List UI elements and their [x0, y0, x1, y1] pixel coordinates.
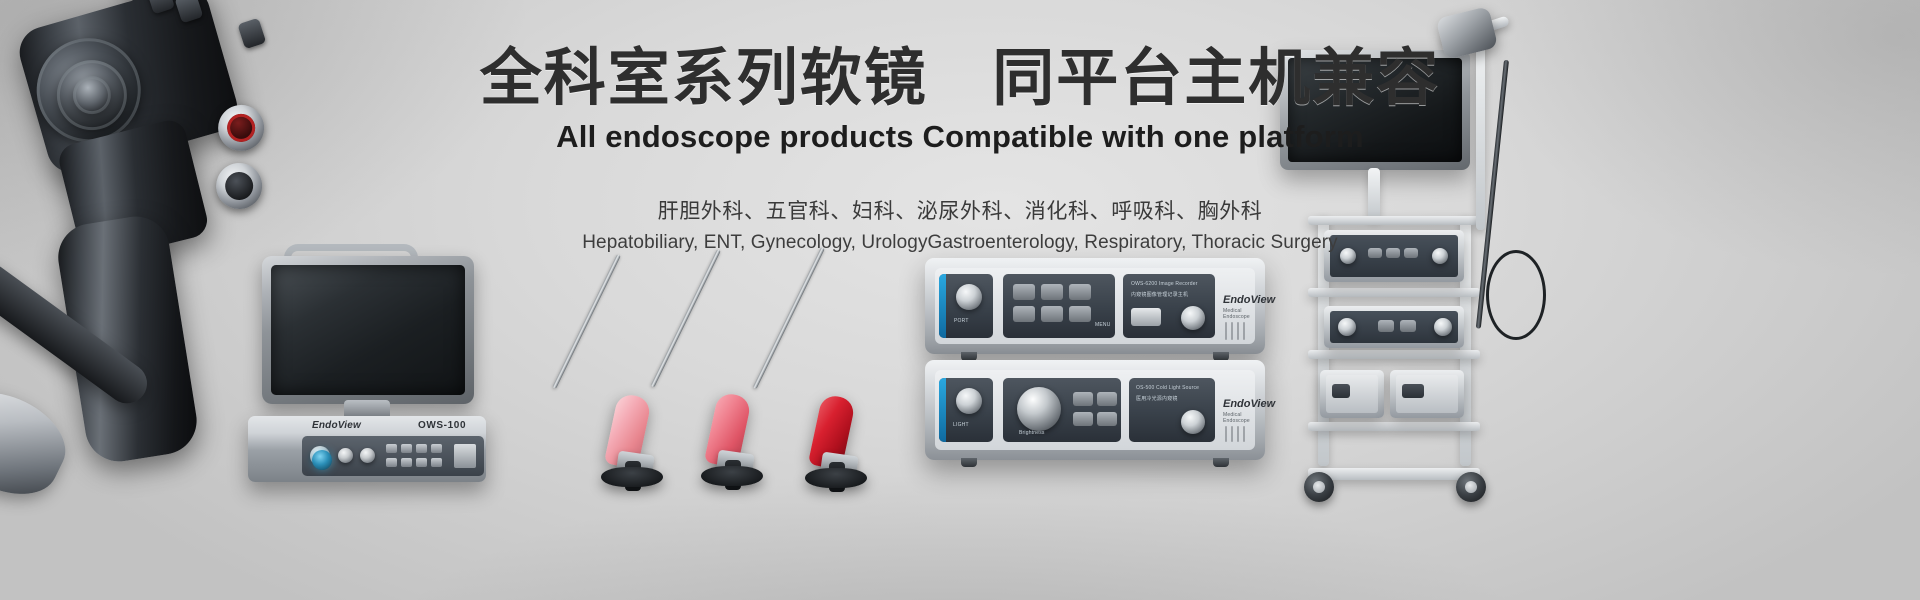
workstation-power-key — [454, 444, 476, 468]
recorder-key-3 — [1069, 284, 1091, 300]
cart-shelf-2 — [1308, 288, 1480, 297]
cart-lower-left-key — [1332, 384, 1350, 398]
lightsource-title-en: OS-500 Cold Light Source — [1136, 385, 1199, 391]
workstation-key-1 — [386, 444, 397, 453]
workstation-knob-2 — [338, 448, 353, 463]
cart-caster-left — [1304, 472, 1334, 502]
workstation-model-label: OWS-100 — [418, 420, 466, 431]
recorder-brand-sub: Medical Endoscope — [1223, 308, 1265, 320]
workstation-key-5 — [386, 458, 397, 467]
headline-cn-part2: 同平台主机兼容 — [992, 44, 1440, 113]
rigid-stand-base — [805, 468, 867, 488]
workstation-brand-label: EndoView — [312, 420, 361, 431]
recorder-brand-label: EndoView — [1223, 294, 1275, 306]
headline-cn-part1: 全科室系列软镜 — [480, 44, 928, 113]
workstation-key-3 — [416, 444, 427, 453]
recorder-key-1 — [1013, 284, 1035, 300]
recorder-accent-strip — [939, 274, 946, 338]
banner-text-block: 全科室系列软镜 同平台主机兼容 All endoscope products C… — [0, 46, 1920, 254]
rigid-shaft — [753, 247, 825, 389]
recorder-keypad-label: MENU — [1095, 322, 1111, 328]
recorder-left-knob — [956, 284, 982, 310]
cart-mid-key-1 — [1378, 320, 1394, 332]
lightsource-accent-strip — [939, 378, 946, 442]
lightsource-left-module: LIGHT — [939, 378, 993, 442]
recorder-title-cn: 内窥镜图像管理记录主机 — [1131, 291, 1188, 298]
cart-equipment-middle — [1324, 306, 1464, 348]
endoscope-light-guide-connector — [0, 376, 79, 511]
portable-workstation: EndoView OWS-100 — [240, 250, 490, 480]
cart-mid-dial — [1338, 318, 1356, 336]
lightsource-brightness-dial — [1017, 387, 1061, 431]
workstation-scope-port — [312, 450, 332, 470]
workstation-key-8 — [431, 458, 442, 467]
cart-shelf-4 — [1308, 422, 1480, 431]
cart-lower-right-key — [1402, 384, 1424, 398]
cart-shelf-3 — [1308, 350, 1480, 359]
recorder-right-knob — [1181, 306, 1205, 330]
lightsource-title-module: OS-500 Cold Light Source 医用冷光源内窥镜 — [1129, 378, 1215, 442]
cart-equipment-lower-left — [1320, 370, 1384, 418]
recorder-keypad-module: MENU — [1003, 274, 1115, 338]
cart-base-plate — [1308, 468, 1480, 480]
page-title: 全科室系列软镜 同平台主机兼容 — [0, 46, 1920, 113]
lightsource-key-2 — [1097, 392, 1117, 406]
scope-cable-loop — [1486, 250, 1546, 340]
lightsource-brand-sub: Medical Endoscope — [1223, 412, 1265, 424]
lightsource-port-knob — [956, 388, 982, 414]
lightsource-left-label: LIGHT — [953, 422, 969, 428]
recorder-title-en: OWS-6200 Image Recorder — [1131, 281, 1198, 287]
recorder-key-4 — [1013, 306, 1035, 322]
workstation-key-6 — [401, 458, 412, 467]
lightsource-right-knob — [1181, 410, 1205, 434]
cart-caster-right — [1456, 472, 1486, 502]
recorder-left-label: PORT — [954, 318, 969, 324]
cold-light-source-unit: LIGHT Brightness OS-500 Cold Light Sourc… — [925, 360, 1265, 460]
cart-mid-knob-2 — [1434, 318, 1452, 336]
lightsource-key-3 — [1073, 412, 1093, 426]
departments-chinese: 肝胆外科、五官科、妇科、泌尿外科、消化科、呼吸科、胸外科 — [0, 195, 1920, 225]
lightsource-key-1 — [1073, 392, 1093, 406]
lightsource-key-4 — [1097, 412, 1117, 426]
cart-equipment-lower-right — [1390, 370, 1464, 418]
image-recorder-unit: PORT MENU OWS-6200 Image Recorder 内窥镜图像管… — [925, 258, 1265, 354]
recorder-key-5 — [1041, 306, 1063, 322]
rigid-endoscope-red — [705, 248, 875, 488]
lightsource-dial-label: Brightness — [1019, 430, 1045, 436]
recorder-key-6 — [1069, 306, 1091, 322]
lightsource-control-module: Brightness — [1003, 378, 1121, 442]
recorder-usb-slot — [1131, 308, 1161, 326]
lightsource-brand-label: EndoView — [1223, 398, 1275, 410]
workstation-key-2 — [401, 444, 412, 453]
headline-english: All endoscope products Compatible with o… — [0, 119, 1920, 155]
departments-english: Hepatobiliary, ENT, Gynecology, UrologyG… — [0, 232, 1920, 254]
recorder-key-2 — [1041, 284, 1063, 300]
workstation-key-7 — [416, 458, 427, 467]
workstation-knob-3 — [360, 448, 375, 463]
cart-mid-key-2 — [1400, 320, 1416, 332]
workstation-key-4 — [431, 444, 442, 453]
recorder-title-module: OWS-6200 Image Recorder 内窥镜图像管理记录主机 — [1123, 274, 1215, 338]
endoscope-function-key-3 — [237, 18, 266, 50]
lightsource-title-cn: 医用冷光源内窥镜 — [1136, 395, 1178, 402]
promotional-banner: 全科室系列软镜 同平台主机兼容 All endoscope products C… — [0, 0, 1920, 600]
workstation-display — [262, 256, 474, 404]
recorder-left-module: PORT — [939, 274, 993, 338]
